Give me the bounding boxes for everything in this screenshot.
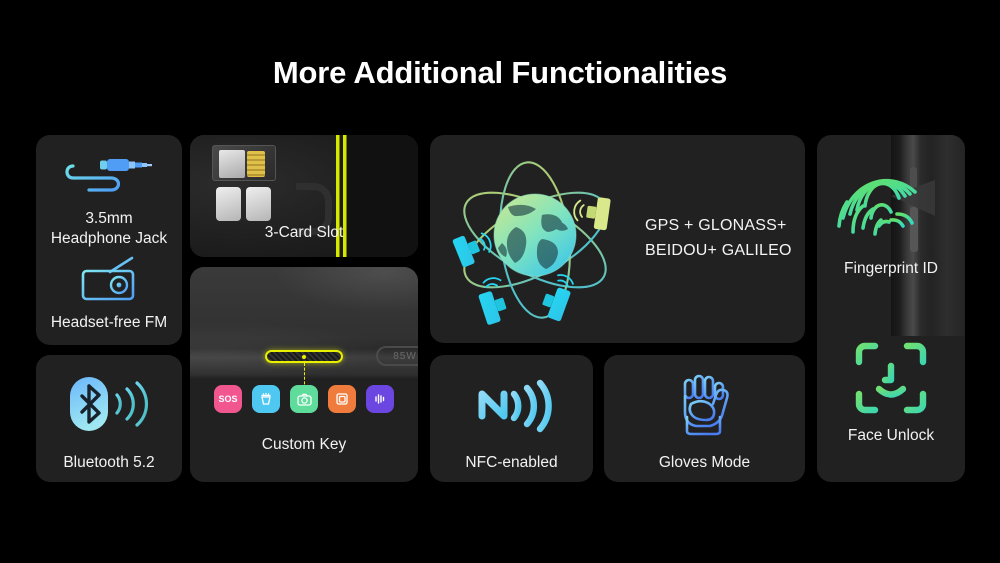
phone-port-pill: 85W	[376, 346, 418, 366]
recorder-app-icon[interactable]	[366, 385, 394, 413]
headphone-jack-feature: 3.5mm Headphone Jack	[36, 151, 182, 249]
gps-label: GPS + GLONASS+ BEIDOU+ GALILEO	[645, 214, 792, 264]
globe-satellites-icon	[430, 135, 645, 343]
page-title: More Additional Functionalities	[0, 55, 1000, 91]
gloves-mode-card[interactable]: Gloves Mode	[604, 355, 805, 482]
fm-radio-icon	[36, 255, 182, 305]
biometrics-card[interactable]: Fingerprint ID	[817, 135, 965, 482]
sd-card-graphic	[219, 150, 245, 178]
audio-card[interactable]: 3.5mm Headphone Jack	[36, 135, 182, 345]
slide-root: More Additional Functionalities	[0, 0, 1000, 563]
nfc-icon	[430, 371, 593, 439]
sos-app-icon[interactable]: SOS	[214, 385, 242, 413]
sim-card-1	[216, 187, 241, 221]
gloves-mode-label: Gloves Mode	[604, 453, 805, 473]
fingerprint-icon	[817, 143, 965, 253]
bluetooth-label: Bluetooth 5.2	[36, 453, 182, 473]
custom-key-label: Custom Key	[190, 435, 418, 455]
custom-key-card[interactable]: 85W SOS	[190, 267, 418, 482]
sos-app-label: SOS	[218, 394, 237, 404]
bluetooth-card[interactable]: Bluetooth 5.2	[36, 355, 182, 482]
sim-contacts-graphic	[247, 151, 265, 177]
custom-key-button-highlight[interactable]	[265, 350, 343, 363]
gps-card[interactable]: GPS + GLONASS+ BEIDOU+ GALILEO	[430, 135, 805, 343]
headphone-jack-icon	[36, 151, 182, 201]
glove-icon	[604, 371, 805, 439]
fingerprint-feature: Fingerprint ID	[817, 143, 965, 279]
card-slot-label: 3-Card Slot	[190, 223, 418, 243]
sim-tray-graphic	[212, 145, 276, 181]
headphone-jack-label: 3.5mm Headphone Jack	[36, 209, 182, 249]
sim-card-2	[246, 187, 271, 221]
fm-radio-label: Headset-free FM	[36, 313, 182, 333]
card-slot-card[interactable]: 3-Card Slot	[190, 135, 418, 257]
camera-app-icon[interactable]	[290, 385, 318, 413]
flashlight-app-icon[interactable]	[252, 385, 280, 413]
nfc-label: NFC-enabled	[430, 453, 593, 473]
nfc-card[interactable]: NFC-enabled	[430, 355, 593, 482]
bluetooth-icon	[36, 369, 182, 439]
face-unlock-icon	[817, 335, 965, 420]
fm-radio-feature: Headset-free FM	[36, 255, 182, 333]
face-unlock-feature: Face Unlock	[817, 335, 965, 446]
fingerprint-label: Fingerprint ID	[817, 259, 965, 279]
face-unlock-label: Face Unlock	[817, 426, 965, 446]
screenshot-app-icon[interactable]	[328, 385, 356, 413]
custom-key-app-list: SOS	[190, 385, 418, 413]
